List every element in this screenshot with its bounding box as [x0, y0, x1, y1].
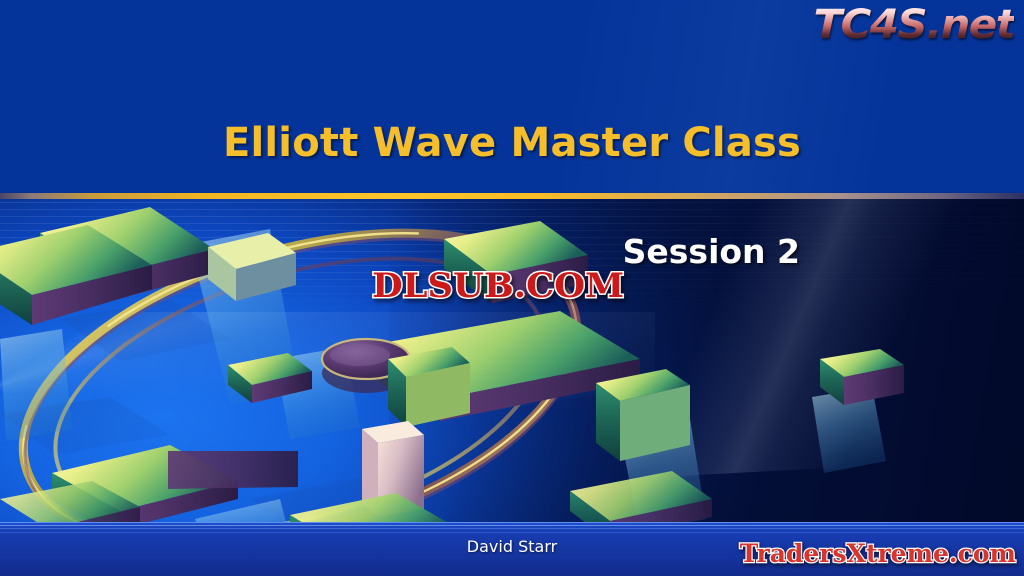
watermark-tc4s: TC4S.net [813, 2, 1014, 48]
slide-title: Elliott Wave Master Class [0, 120, 1024, 166]
presentation-slide: Elliott Wave Master Class Session 2 Davi… [0, 0, 1024, 576]
watermark-dlsub: DLSUB.COM [372, 266, 624, 306]
footer-highlight-lines [0, 522, 1024, 536]
watermark-tradersxtreme: TradersXtreme.com [740, 539, 1016, 568]
